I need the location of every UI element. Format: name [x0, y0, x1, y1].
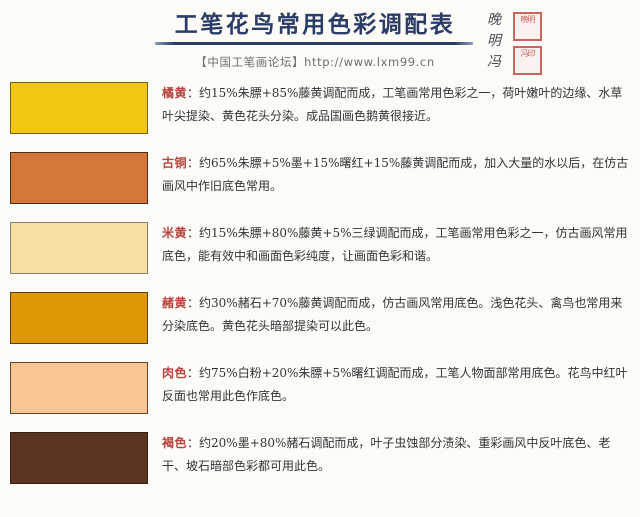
- name-separator: ：: [187, 156, 199, 170]
- red-seal-stamp-upper: 晚明: [513, 12, 542, 41]
- color-description: 肉色：约75%白粉+20%朱膘+5%曙红调配而成，工笔人物面部常用底色。花鸟中红…: [162, 362, 640, 408]
- color-name-label: 古铜: [162, 156, 187, 170]
- name-separator: ：: [187, 366, 199, 380]
- description-paragraph: 赭黄：约30%赭石+70%藤黄调配而成，仿古画风常用底色。浅色花头、禽鸟也常用来…: [162, 292, 634, 338]
- page-header: 工笔花鸟常用色彩调配表 【中国工笔画论坛】http://www.lxm99.cn…: [0, 0, 640, 82]
- description-paragraph: 肉色：约75%白粉+20%朱膘+5%曙红调配而成，工笔人物面部常用底色。花鸟中红…: [162, 362, 634, 408]
- name-separator: ：: [187, 436, 199, 450]
- name-separator: ：: [187, 296, 199, 310]
- color-row: 褐色：约20%墨+80%赭石调配而成，叶子虫蚀部分渍染、重彩画风中反叶底色、老干…: [0, 432, 640, 484]
- description-text: 约30%赭石+70%藤黄调配而成，仿古画风常用底色。浅色花头、禽鸟也常用来分染底…: [162, 296, 622, 333]
- color-row: 橘黄：约15%朱膘+85%藤黄调配而成，工笔画常用色彩之一，荷叶嫩叶的边缘、水草…: [0, 82, 640, 134]
- red-seal-stamp-lower: 冯印: [513, 46, 542, 75]
- description-text: 约20%墨+80%赭石调配而成，叶子虫蚀部分渍染、重彩画风中反叶底色、老干、坡石…: [162, 436, 610, 473]
- name-separator: ：: [187, 86, 199, 100]
- color-description: 橘黄：约15%朱膘+85%藤黄调配而成，工笔画常用色彩之一，荷叶嫩叶的边缘、水草…: [162, 82, 640, 128]
- color-name-label: 赭黄: [162, 296, 187, 310]
- name-separator: ：: [187, 226, 199, 240]
- color-swatch[interactable]: [10, 362, 148, 414]
- color-description: 赭黄：约30%赭石+70%藤黄调配而成，仿古画风常用底色。浅色花头、禽鸟也常用来…: [162, 292, 640, 338]
- description-text: 约75%白粉+20%朱膘+5%曙红调配而成，工笔人物面部常用底色。花鸟中红叶反面…: [162, 366, 628, 403]
- color-table: 橘黄：约15%朱膘+85%藤黄调配而成，工笔画常用色彩之一，荷叶嫩叶的边缘、水草…: [0, 82, 640, 484]
- color-description: 褐色：约20%墨+80%赭石调配而成，叶子虫蚀部分渍染、重彩画风中反叶底色、老干…: [162, 432, 640, 478]
- color-name-label: 橘黄: [162, 86, 187, 100]
- calligraphy-signature: 晚明冯: [482, 10, 506, 73]
- color-name-label: 褐色: [162, 436, 187, 450]
- color-name-label: 米黄: [162, 226, 187, 240]
- title-divider: [155, 42, 473, 45]
- description-paragraph: 橘黄：约15%朱膘+85%藤黄调配而成，工笔画常用色彩之一，荷叶嫩叶的边缘、水草…: [162, 82, 634, 128]
- color-row: 肉色：约75%白粉+20%朱膘+5%曙红调配而成，工笔人物面部常用底色。花鸟中红…: [0, 362, 640, 414]
- color-row: 古铜：约65%朱膘+5%墨+15%曙红+15%藤黄调配而成，加入大量的水以后，在…: [0, 152, 640, 204]
- description-text: 约15%朱膘+85%藤黄调配而成，工笔画常用色彩之一，荷叶嫩叶的边缘、水草叶尖提…: [162, 86, 622, 123]
- color-swatch[interactable]: [10, 82, 148, 134]
- color-swatch[interactable]: [10, 292, 148, 344]
- description-paragraph: 米黄：约15%朱膘+80%藤黄+5%三绿调配而成，工笔画常用色彩之一，仿古画风常…: [162, 222, 634, 268]
- description-text: 约65%朱膘+5%墨+15%曙红+15%藤黄调配而成，加入大量的水以后，在仿古画…: [162, 156, 628, 193]
- color-description: 米黄：约15%朱膘+80%藤黄+5%三绿调配而成，工笔画常用色彩之一，仿古画风常…: [162, 222, 640, 268]
- seal-area: 晚明冯 晚明 冯印: [482, 8, 554, 80]
- color-description: 古铜：约65%朱膘+5%墨+15%曙红+15%藤黄调配而成，加入大量的水以后，在…: [162, 152, 640, 198]
- description-paragraph: 古铜：约65%朱膘+5%墨+15%曙红+15%藤黄调配而成，加入大量的水以后，在…: [162, 152, 634, 198]
- description-paragraph: 褐色：约20%墨+80%赭石调配而成，叶子虫蚀部分渍染、重彩画风中反叶底色、老干…: [162, 432, 634, 478]
- page-title: 工笔花鸟常用色彩调配表: [155, 10, 475, 40]
- color-swatch[interactable]: [10, 222, 148, 274]
- color-swatch[interactable]: [10, 432, 148, 484]
- page-subtitle: 【中国工笔画论坛】http://www.lxm99.cn: [155, 54, 475, 70]
- description-text: 约15%朱膘+80%藤黄+5%三绿调配而成，工笔画常用色彩之一，仿古画风常用底色…: [162, 226, 628, 263]
- title-block: 工笔花鸟常用色彩调配表 【中国工笔画论坛】http://www.lxm99.cn: [155, 10, 475, 70]
- color-row: 米黄：约15%朱膘+80%藤黄+5%三绿调配而成，工笔画常用色彩之一，仿古画风常…: [0, 222, 640, 274]
- color-swatch[interactable]: [10, 152, 148, 204]
- color-row: 赭黄：约30%赭石+70%藤黄调配而成，仿古画风常用底色。浅色花头、禽鸟也常用来…: [0, 292, 640, 344]
- color-name-label: 肉色: [162, 366, 187, 380]
